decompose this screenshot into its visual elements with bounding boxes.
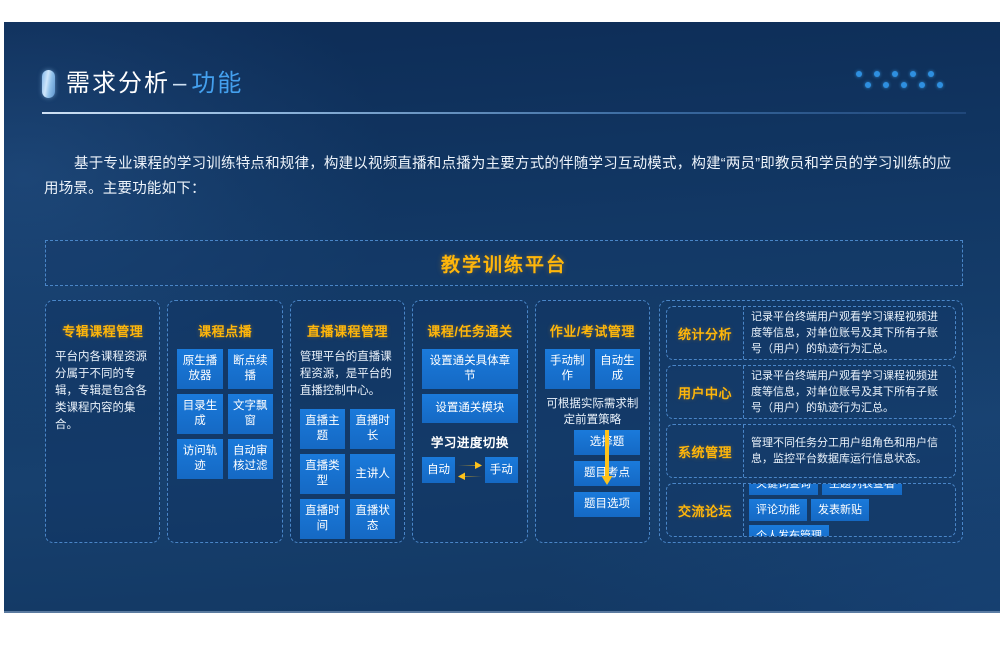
column-album-course-management[interactable]: 专辑课程管理 平台内各课程资源分属于不同的专辑，专辑是包含各类课程内容的集合。 (45, 300, 160, 543)
right-row-label: 统计分析 (667, 307, 744, 359)
forum-tag[interactable]: 评论功能 (749, 499, 807, 521)
page-title-dash: – (170, 70, 191, 97)
pill-icon (42, 70, 55, 98)
column-description: 平台内各课程资源分属于不同的专辑，专辑是包含各类课程内容的集合。 (55, 349, 150, 434)
right-row-user-center[interactable]: 用户中心 记录平台终端用户观看学习课程视频进度等信息，对单位账号及其下所有子账号… (666, 365, 956, 419)
feature-button[interactable]: 自动审核过滤 (228, 439, 273, 479)
feature-button[interactable]: 目录生成 (177, 394, 222, 434)
feature-button[interactable]: 主讲人 (350, 454, 395, 494)
feature-columns: 专辑课程管理 平台内各课程资源分属于不同的专辑，专辑是包含各类课程内容的集合。 … (45, 300, 650, 543)
feature-button[interactable]: 设置通关具体章节 (422, 349, 517, 389)
intro-paragraph: 基于专业课程的学习训练特点和规律，构建以视频直播和点播为主要方式的伴随学习互动模… (44, 152, 966, 202)
column-button-grid: 原生播放器 断点续播 目录生成 文字飘窗 访问轨迹 自动审核过滤 (177, 349, 272, 479)
forum-tag[interactable]: 个人发布管理 (749, 525, 829, 537)
feature-button[interactable]: 直播状态 (350, 499, 395, 539)
feature-button[interactable]: 设置通关模块 (422, 394, 517, 423)
switch-manual-button[interactable]: 手动 (485, 457, 518, 483)
column-title: 作业/考试管理 (550, 321, 635, 340)
feature-button[interactable]: 直播时间 (300, 499, 345, 539)
arrow-left-icon (457, 472, 483, 482)
right-row-description: 记录平台终端用户观看学习课程视频进度等信息，对单位账号及其下所有子账号（用户）的… (744, 366, 955, 418)
header-divider (42, 112, 966, 114)
page-title-sub: 功能 (191, 70, 243, 97)
column-title: 专辑课程管理 (62, 321, 143, 340)
column-button-grid: 直播主题 直播时长 直播类型 主讲人 直播时间 直播状态 (300, 409, 395, 539)
right-feature-panel: 统计分析 记录平台终端用户观看学习课程视频进度等信息，对单位账号及其下所有子账号… (659, 300, 963, 543)
right-row-description: 管理不同任务分工用户组角色和用户信息，监控平台数据库运行信息状态。 (744, 425, 955, 477)
forum-tag[interactable]: 发表新贴 (811, 499, 869, 521)
right-row-system-management[interactable]: 系统管理 管理不同任务分工用户组角色和用户信息，监控平台数据库运行信息状态。 (666, 424, 956, 478)
right-row-forum[interactable]: 交流论坛 关键词查询 主题列表查看 评论功能 发表新贴 个人发布管理 (666, 483, 956, 537)
forum-tag[interactable]: 主题列表查看 (822, 483, 902, 495)
swap-arrows-icon (457, 457, 483, 483)
feature-button[interactable]: 文字飘窗 (228, 394, 273, 434)
column-title: 直播课程管理 (307, 321, 388, 340)
column-course-on-demand[interactable]: 课程点播 原生播放器 断点续播 目录生成 文字飘窗 访问轨迹 自动审核过滤 (167, 300, 282, 543)
arrow-right-icon (457, 459, 483, 469)
feature-button[interactable]: 访问轨迹 (177, 439, 222, 479)
feature-button[interactable]: 手动制作 (545, 349, 590, 389)
forum-tag[interactable]: 关键词查询 (749, 483, 818, 495)
feature-button[interactable]: 原生播放器 (177, 349, 222, 389)
platform-banner: 教学训练平台 (45, 240, 963, 286)
dot-grid-icon (856, 67, 950, 93)
slide-canvas: 需求分析–功能 基于专业课程的学习训练特点和规律，构建以视频直播和点播为主要方式… (4, 22, 1000, 613)
slide-header: 需求分析–功能 (38, 65, 966, 113)
right-row-description: 记录平台终端用户观看学习课程视频进度等信息，对单位账号及其下所有子账号（用户）的… (744, 307, 955, 359)
right-row-statistics[interactable]: 统计分析 记录平台终端用户观看学习课程视频进度等信息，对单位账号及其下所有子账号… (666, 306, 956, 360)
column-course-task-clearance[interactable]: 课程/任务通关 设置通关具体章节 设置通关模块 学习进度切换 自动 手动 (412, 300, 527, 543)
feature-button[interactable]: 直播主题 (300, 409, 345, 449)
feature-button[interactable]: 直播时长 (350, 409, 395, 449)
progress-switch-label: 学习进度切换 (431, 432, 509, 451)
right-row-label: 用户中心 (667, 366, 744, 418)
column-live-course-management[interactable]: 直播课程管理 管理平台的直播课程资源，是平台的直播控制中心。 直播主题 直播时长… (290, 300, 405, 543)
page-title: 需求分析–功能 (66, 65, 243, 103)
right-row-label: 交流论坛 (667, 484, 744, 536)
switch-auto-button[interactable]: 自动 (422, 457, 455, 483)
column-title: 课程/任务通关 (427, 321, 512, 340)
feature-button[interactable]: 直播类型 (300, 454, 345, 494)
column-button-grid: 手动制作 自动生成 (545, 349, 640, 389)
column-button-grid: 设置通关具体章节 设置通关模块 (422, 349, 517, 423)
column-homework-exam-management[interactable]: 作业/考试管理 手动制作 自动生成 可根据实际需求制定前置策略 选择题 题目考点… (535, 300, 650, 543)
feature-button[interactable]: 自动生成 (595, 349, 640, 389)
column-title: 课程点播 (198, 321, 252, 340)
platform-banner-title: 教学训练平台 (441, 250, 567, 277)
forum-tag-list: 关键词查询 主题列表查看 评论功能 发表新贴 个人发布管理 (744, 484, 955, 536)
page-title-main: 需求分析 (66, 70, 170, 97)
progress-switch-row: 自动 手动 (422, 457, 517, 483)
question-flow: 选择题 题目考点 题目选项 (545, 430, 640, 523)
strategy-note: 可根据实际需求制定前置策略 (545, 396, 640, 428)
feature-button[interactable]: 题目选项 (574, 492, 640, 517)
arrow-down-icon (601, 430, 613, 486)
column-description: 管理平台的直播课程资源，是平台的直播控制中心。 (300, 349, 395, 400)
feature-button[interactable]: 断点续播 (228, 349, 273, 389)
right-row-label: 系统管理 (667, 425, 744, 477)
